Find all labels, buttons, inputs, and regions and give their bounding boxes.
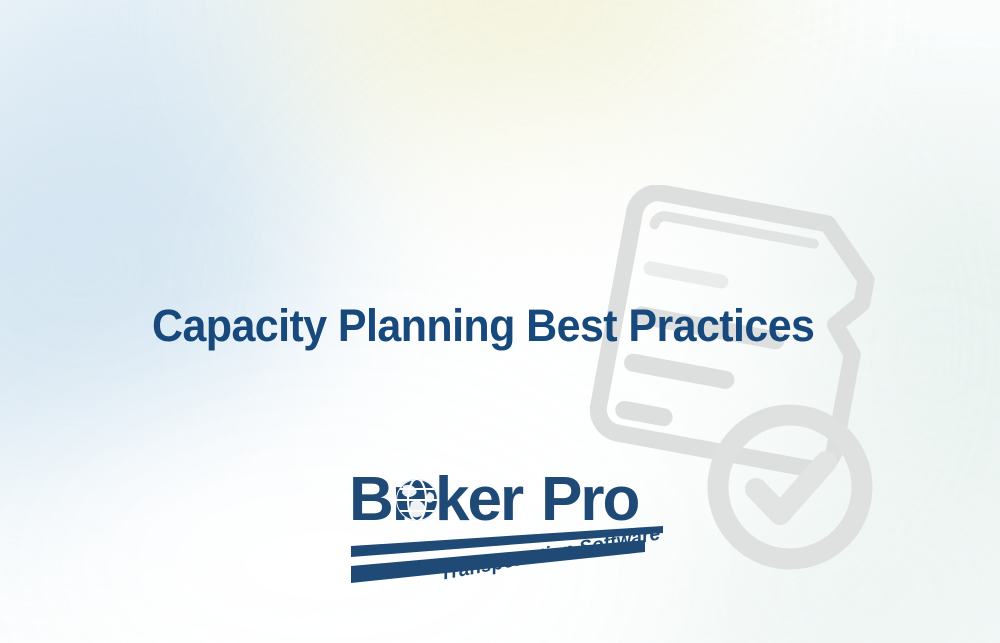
globe-icon (396, 479, 438, 521)
slide-title: Capacity Planning Best Practices (152, 302, 814, 349)
logo-wordmark-ker: ker (435, 465, 524, 534)
logo-wordmark-pro: Pro (541, 465, 638, 534)
brokerpro-logo: Br ker Pro (345, 462, 675, 587)
logo-wordmark: Br ker Pro (349, 465, 638, 534)
slide-canvas: Capacity Planning Best Practices Br ker … (0, 0, 1000, 643)
